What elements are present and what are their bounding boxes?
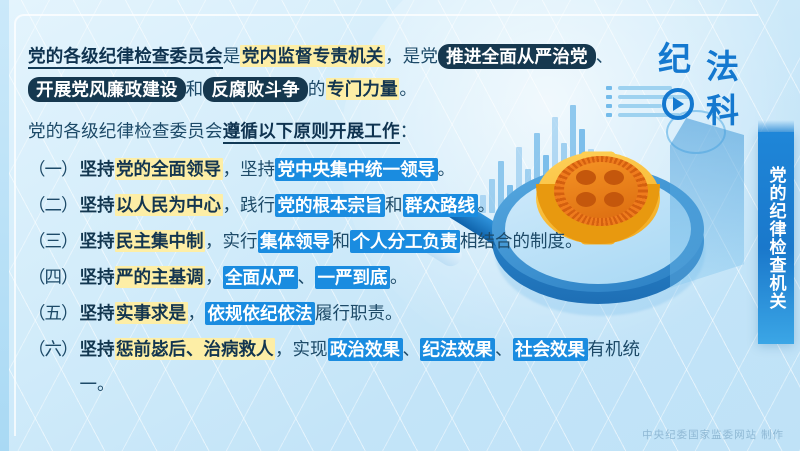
principle-segment: 坚持 <box>80 159 115 179</box>
lead-text-5: 的 <box>308 79 326 99</box>
principle-segment: 相结合的制度。 <box>460 231 583 251</box>
principle-segment: 坚持 <box>80 231 115 251</box>
principle-item: （六）坚持惩前毖后、治病救人，实现政治效果、纪法效果、社会效果有机统一。 <box>28 332 648 402</box>
principle-segment: ，坚持 <box>223 159 276 179</box>
principle-item: （五）坚持实事求是，依规依纪依法履行职责。 <box>28 296 648 331</box>
principle-text: 坚持实事求是，依规依纪依法履行职责。 <box>80 296 649 331</box>
principle-segment: 、 <box>298 267 316 287</box>
lead-paragraph: 党的各级纪律检查委员会是党内监督专责机关，是党推进全面从严治党、开展党风廉政建设… <box>28 40 648 106</box>
principle-segment: 群众路线 <box>403 194 478 217</box>
lead-underlined-term: 党的各级纪律检查委员会 <box>28 46 223 69</box>
principles-list: （一）坚持党的全面领导，坚持党中央集中统一领导。（二）坚持以人民为中心，践行党的… <box>28 152 648 402</box>
principle-number: （六） <box>28 332 78 367</box>
left-edge-stripe <box>0 0 9 451</box>
principle-segment: 、 <box>403 339 421 359</box>
text-content: 党的各级纪律检查委员会是党内监督专责机关，是党推进全面从严治党、开展党风廉政建设… <box>28 40 648 403</box>
credit-line: 中央纪委国家监委网站 制作 <box>642 427 784 442</box>
principle-segment: 党的根本宗旨 <box>275 194 385 217</box>
principle-segment: 纪法效果 <box>420 338 495 361</box>
lead-pill-3: 反腐败斗争 <box>203 77 308 102</box>
poster-canvas: 党的各级纪律检查委员会是党内监督专责机关，是党推进全面从严治党、开展党风廉政建设… <box>0 0 800 451</box>
principle-text: 坚持以人民为中心，践行党的根本宗旨和群众路线。 <box>80 188 649 223</box>
principle-segment: 履行职责。 <box>315 303 403 323</box>
principle-segment: 实事求是 <box>115 302 188 324</box>
lead-text-4: 和 <box>186 79 204 99</box>
principle-number: （三） <box>28 224 78 259</box>
lead-highlight-yellow-2: 专门力量 <box>326 78 400 100</box>
principle-segment: 以人民为中心 <box>115 194 223 216</box>
principle-segment: 惩前毖后、治病救人 <box>115 338 276 360</box>
principle-segment: ，实行 <box>205 231 258 251</box>
brand-logo: 纪 法 普 科 <box>656 42 764 138</box>
lead-text-3: 、 <box>596 46 614 66</box>
principle-segment: 集体领导 <box>258 230 333 253</box>
logo-char-ke: 科 <box>706 94 739 127</box>
principle-segment: ，践行 <box>223 195 276 215</box>
principle-segment: 党中央集中统一领导 <box>275 158 438 181</box>
principle-segment: 个人分工负责 <box>350 230 460 253</box>
principle-segment: ， <box>188 303 206 323</box>
principle-segment: ，实现 <box>275 339 328 359</box>
principle-number: （二） <box>28 188 78 223</box>
logo-char-fa: 法 <box>706 50 739 83</box>
principle-text: 坚持惩前毖后、治病救人，实现政治效果、纪法效果、社会效果有机统一。 <box>80 332 649 402</box>
principle-text: 坚持严的主基调，全面从严、一严到底。 <box>80 260 649 295</box>
lead-pill-1: 推进全面从严治党 <box>438 44 596 69</box>
principle-segment: 坚持 <box>80 339 115 359</box>
intro-underlined-term: 遵循以下原则开展工作 <box>223 121 400 144</box>
principle-segment: 。 <box>478 195 496 215</box>
lead-text-6: 。 <box>399 79 417 99</box>
principle-text: 坚持民主集中制，实行集体领导和个人分工负责相结合的制度。 <box>80 224 649 259</box>
principle-segment: 严的主基调 <box>115 266 206 288</box>
vertical-banner: 党的纪律检查机关 <box>758 132 794 344</box>
principle-segment: 全面从严 <box>223 266 298 289</box>
intro-colon: ： <box>400 121 418 141</box>
principle-number: （五） <box>28 296 78 331</box>
principle-segment: 党的全面领导 <box>115 158 223 180</box>
lead-text-2: ，是党 <box>385 46 438 66</box>
principle-item: （三）坚持民主集中制，实行集体领导和个人分工负责相结合的制度。 <box>28 224 648 259</box>
lead-pill-2: 开展党风廉政建设 <box>28 77 186 102</box>
principle-segment: 坚持 <box>80 267 115 287</box>
intro-paragraph: 党的各级纪律检查委员会遵循以下原则开展工作： <box>28 115 648 148</box>
lead-highlight-yellow-1: 党内监督专责机关 <box>240 45 385 67</box>
principle-segment: 依规依纪依法 <box>205 302 315 325</box>
principle-segment: ， <box>205 267 223 287</box>
principle-segment: 坚持 <box>80 303 115 323</box>
logo-char-ji: 纪 <box>658 42 691 75</box>
principle-segment: 。 <box>438 159 456 179</box>
principle-item: （二）坚持以人民为中心，践行党的根本宗旨和群众路线。 <box>28 188 648 223</box>
principle-item: （一）坚持党的全面领导，坚持党中央集中统一领导。 <box>28 152 648 187</box>
principle-segment: 和 <box>333 231 351 251</box>
principle-number: （四） <box>28 260 78 295</box>
principle-segment: 。 <box>390 267 408 287</box>
principle-number: （一） <box>28 152 78 187</box>
play-triangle-icon <box>673 97 684 111</box>
lead-text-1: 是 <box>223 46 241 66</box>
blue-sheet-decoration <box>670 118 744 288</box>
principle-segment: 一严到底 <box>315 266 390 289</box>
principle-segment: 民主集中制 <box>115 230 206 252</box>
principle-segment: 社会效果 <box>513 338 588 361</box>
intro-text: 党的各级纪律检查委员会 <box>28 121 223 141</box>
principle-segment: 、 <box>495 339 513 359</box>
principle-segment: 和 <box>385 195 403 215</box>
principle-text: 坚持党的全面领导，坚持党中央集中统一领导。 <box>80 152 649 187</box>
principle-item: （四）坚持严的主基调，全面从严、一严到底。 <box>28 260 648 295</box>
principle-segment: 坚持 <box>80 195 115 215</box>
principle-segment: 政治效果 <box>328 338 403 361</box>
